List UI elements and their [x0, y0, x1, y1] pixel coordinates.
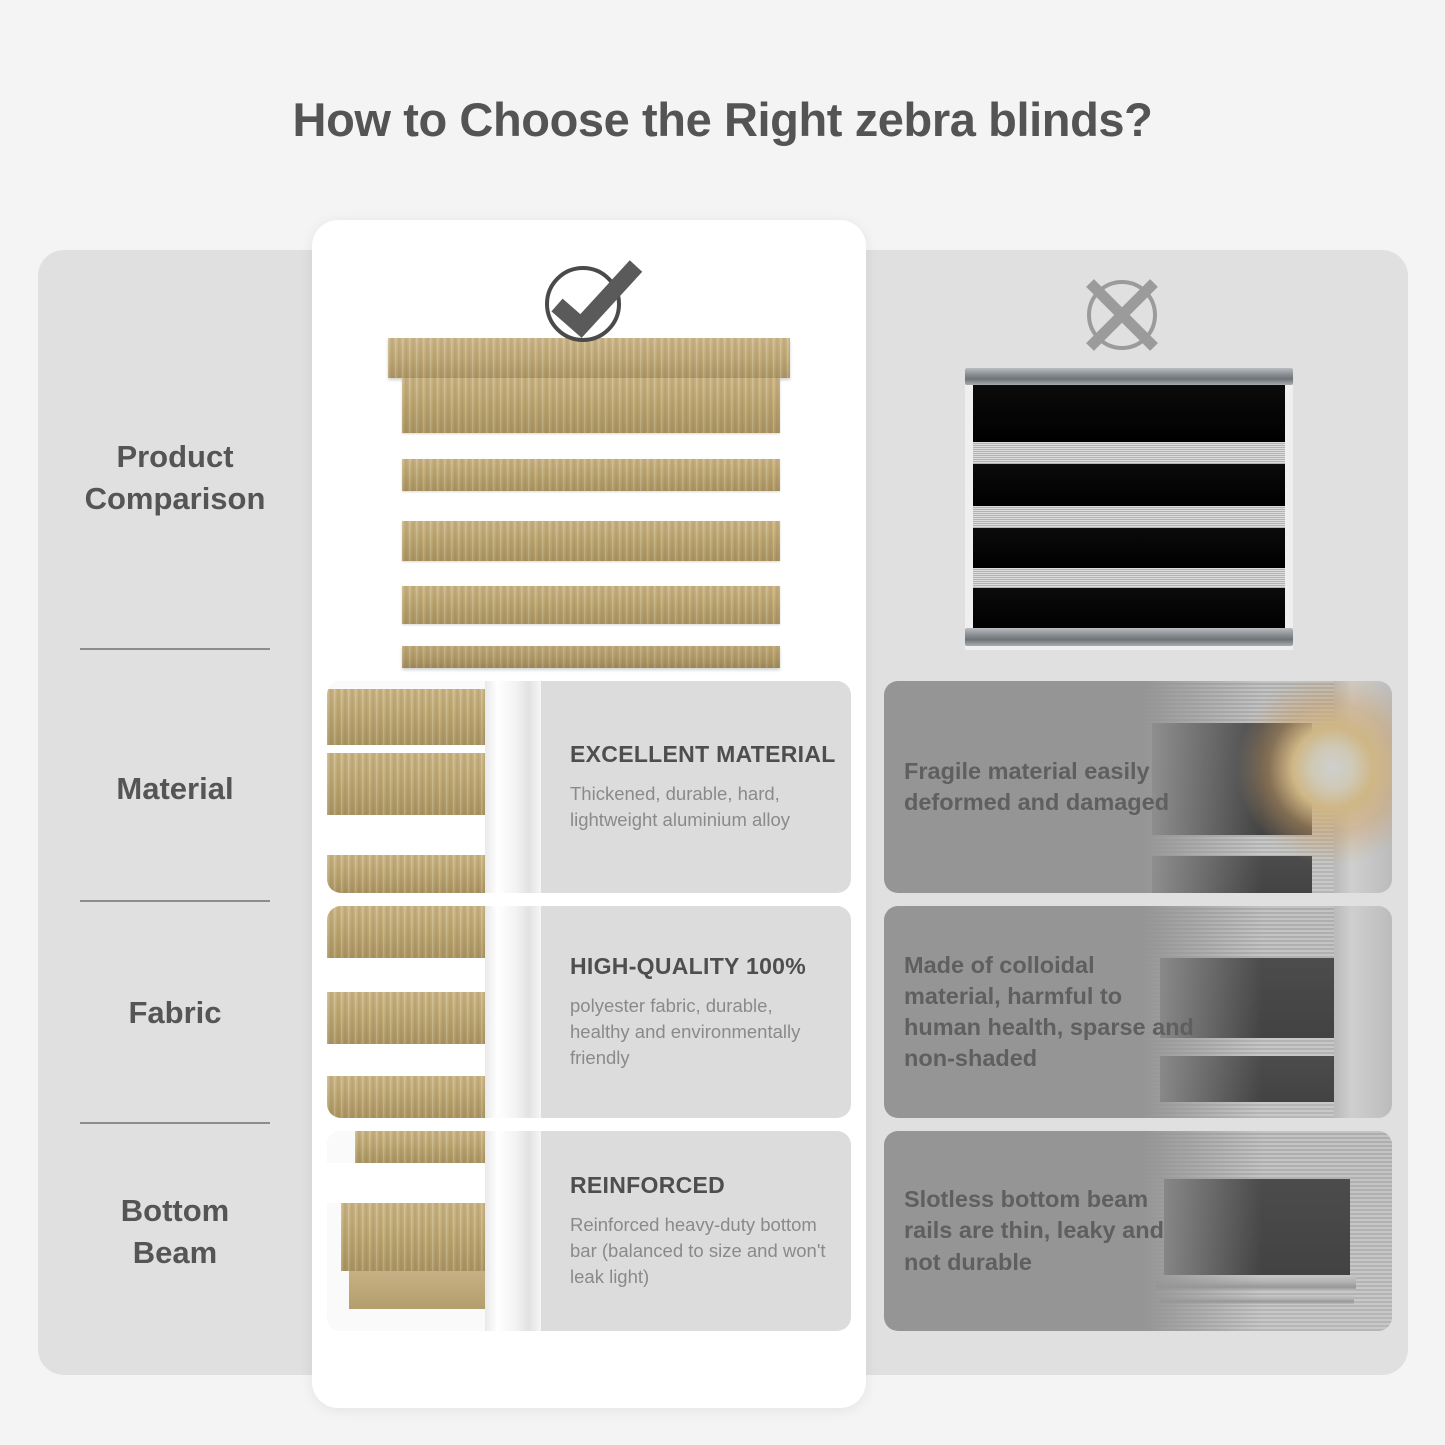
feature-text-good-bottom-beam: REINFORCED Reinforced heavy-duty bottom … — [570, 1131, 837, 1331]
blind-top-rail — [965, 368, 1293, 385]
feature-text-bad-fabric: Made of colloidal material, harmful to h… — [904, 906, 1194, 1118]
feature-body: Thickened, durable, hard, lightweight al… — [570, 781, 837, 834]
feature-image-good-bottom-beam — [327, 1131, 541, 1331]
blind-band-sheer — [973, 442, 1285, 464]
feature-text-bad-material: Fragile material easily deformed and dam… — [904, 681, 1194, 893]
feature-card-bad-fabric: Made of colloidal material, harmful to h… — [884, 906, 1392, 1118]
blind-band-dark — [973, 588, 1285, 628]
blind-band-sheer — [973, 568, 1285, 588]
row-label-material: Material — [38, 768, 312, 810]
blind-band-dark — [973, 464, 1285, 506]
feature-card-bad-material: Fragile material easily deformed and dam… — [884, 681, 1392, 893]
feature-heading: HIGH-QUALITY 100% — [570, 953, 837, 980]
row-label-line2: Beam — [38, 1232, 312, 1274]
row-label-line1: Fabric — [38, 992, 312, 1034]
row-divider — [80, 648, 270, 650]
feature-text-good-material: EXCELLENT MATERIAL Thickened, durable, h… — [570, 681, 837, 893]
blind-slat — [402, 586, 780, 624]
feature-heading: REINFORCED — [570, 1172, 837, 1199]
row-divider — [80, 900, 270, 902]
blind-bottom-bar — [402, 646, 780, 668]
blind-band-dark — [973, 385, 1285, 442]
row-label-line1: Bottom — [38, 1190, 312, 1232]
feature-card-good-bottom-beam: REINFORCED Reinforced heavy-duty bottom … — [327, 1131, 851, 1331]
feature-card-good-material: EXCELLENT MATERIAL Thickened, durable, h… — [327, 681, 851, 893]
feature-card-good-fabric: HIGH-QUALITY 100% polyester fabric, dura… — [327, 906, 851, 1118]
feature-heading: EXCELLENT MATERIAL — [570, 741, 837, 768]
feature-image-good-fabric — [327, 906, 541, 1118]
feature-body: polyester fabric, durable, healthy and e… — [570, 993, 837, 1072]
check-circle-icon — [535, 252, 645, 347]
blind-bottom-rail — [965, 628, 1293, 646]
blind-slat — [402, 378, 780, 433]
blind-slat — [402, 521, 780, 561]
row-label-fabric: Fabric — [38, 992, 312, 1034]
blind-slat — [402, 459, 780, 491]
feature-heading: Fragile material easily deformed and dam… — [904, 756, 1194, 818]
row-label-line1: Material — [38, 768, 312, 810]
feature-body: Reinforced heavy-duty bottom bar (balanc… — [570, 1212, 837, 1291]
row-label-product-comparison: Product Comparison — [38, 436, 312, 520]
feature-text-good-fabric: HIGH-QUALITY 100% polyester fabric, dura… — [570, 906, 837, 1118]
hero-image-bad-blind — [965, 368, 1293, 650]
row-divider — [80, 1122, 270, 1124]
feature-heading: Made of colloidal material, harmful to h… — [904, 950, 1194, 1074]
row-label-line1: Product — [38, 436, 312, 478]
feature-text-bad-bottom-beam: Slotless bottom beam rails are thin, lea… — [904, 1131, 1194, 1331]
cross-circle-icon — [1075, 268, 1170, 363]
blind-band-sheer — [973, 506, 1285, 528]
hero-image-good-blind — [380, 338, 798, 668]
feature-card-bad-bottom-beam: Slotless bottom beam rails are thin, lea… — [884, 1131, 1392, 1331]
row-label-bottom-beam: Bottom Beam — [38, 1190, 312, 1274]
page-title: How to Choose the Right zebra blinds? — [0, 92, 1445, 147]
feature-heading: Slotless bottom beam rails are thin, lea… — [904, 1184, 1194, 1277]
row-label-column: Product Comparison Material Fabric Botto… — [38, 250, 312, 1375]
blind-band-dark — [973, 528, 1285, 568]
feature-image-good-material — [327, 681, 541, 893]
row-label-line2: Comparison — [38, 478, 312, 520]
